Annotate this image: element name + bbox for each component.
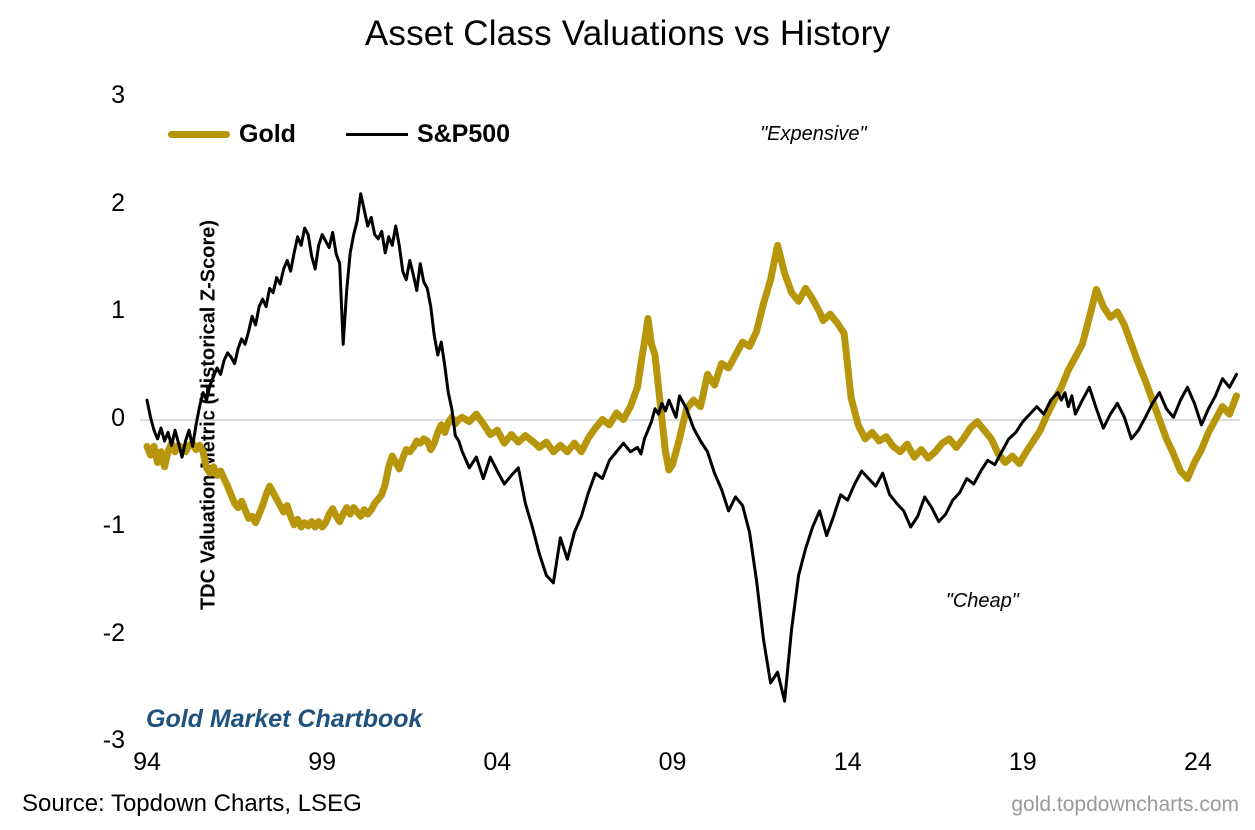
- chartbook-brand-label: Gold Market Chartbook: [146, 705, 422, 734]
- legend-label-spx: S&P500: [417, 120, 510, 149]
- x-tick-label: 04: [467, 748, 527, 777]
- series-line-gold: [147, 245, 1236, 527]
- annotation-expensive: "Expensive": [760, 123, 866, 146]
- legend-item-gold: Gold: [168, 120, 296, 149]
- x-tick-label: 94: [117, 748, 177, 777]
- legend-swatch-gold-icon: [168, 131, 230, 138]
- data-series-group: [147, 194, 1236, 701]
- legend-label-gold: Gold: [239, 120, 296, 149]
- legend-item-spx: S&P500: [346, 120, 510, 149]
- x-tick-label: 19: [993, 748, 1053, 777]
- watermark-label: gold.topdowncharts.com: [1011, 793, 1239, 817]
- legend-swatch-spx-icon: [346, 133, 408, 136]
- series-line-s-p500: [147, 194, 1236, 701]
- x-tick-label: 99: [292, 748, 352, 777]
- x-tick-label: 09: [642, 748, 702, 777]
- source-label: Source: Topdown Charts, LSEG: [22, 790, 362, 818]
- annotation-cheap: "Cheap": [946, 590, 1019, 613]
- chart-legend: Gold S&P500: [168, 120, 510, 149]
- x-tick-label: 14: [818, 748, 878, 777]
- x-tick-label: 24: [1168, 748, 1228, 777]
- chart-container: Asset Class Valuations vs History TDC Va…: [0, 0, 1255, 830]
